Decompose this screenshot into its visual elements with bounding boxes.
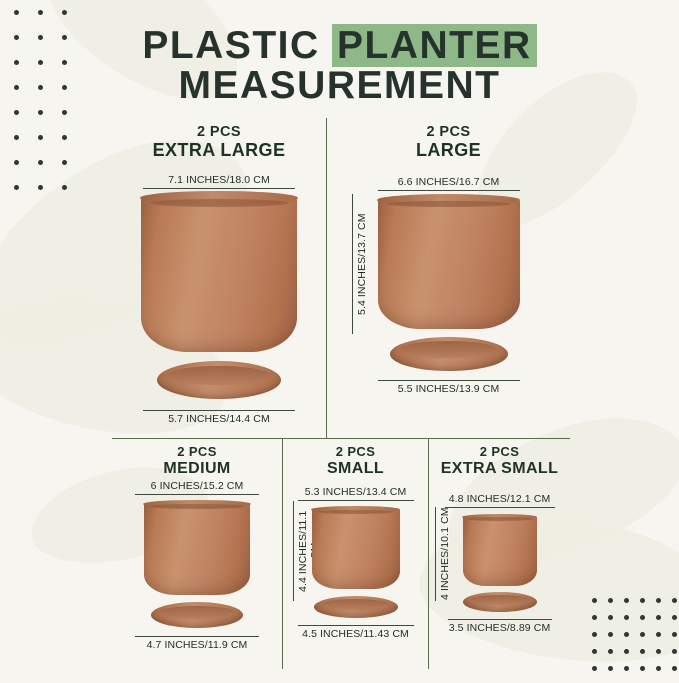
measure-top-extra-small: 4.8 INCHES/12.1 CM [445, 493, 555, 508]
measure-top-large: 6.6 INCHES/16.7 CM [378, 176, 520, 191]
product-art-large [327, 199, 570, 371]
measure-bottom-medium: 4.7 INCHES/11.9 CM [135, 636, 259, 651]
planter-pot-small [312, 509, 400, 589]
size-name: MEDIUM [112, 460, 282, 478]
pcs-label: 2 PCS [112, 124, 326, 140]
planter-pot-large [378, 199, 520, 329]
pcs-label: 2 PCS [112, 445, 282, 460]
pcs-label: 2 PCS [429, 445, 570, 460]
product-art-extra-small [429, 516, 570, 612]
pcs-label: 2 PCS [283, 445, 428, 460]
planter-pot-medium [144, 503, 250, 595]
title-line-2: MEASUREMENT [0, 66, 679, 106]
measure-bottom-extra-large: 5.7 INCHES/14.4 CM [143, 410, 295, 425]
measure-top-medium: 6 INCHES/15.2 CM [135, 480, 259, 495]
infographic-page: PLASTIC PLANTER MEASUREMENT 2 PCS EXTRA … [0, 0, 679, 679]
page-title: PLASTIC PLANTER MEASUREMENT [0, 0, 679, 106]
measure-top-extra-large: 7.1 INCHES/18.0 CM [143, 174, 295, 189]
size-cell-large: 2 PCS LARGE 6.6 INCHES/16.7 CM 5.4 INCHE… [326, 118, 570, 438]
size-name: EXTRA SMALL [429, 460, 570, 478]
planter-saucer-extra-small [463, 592, 537, 612]
size-cell-extra-large: 2 PCS EXTRA LARGE 7.1 INCHES/18.0 CM 5.7… [112, 118, 326, 438]
title-line-1: PLASTIC PLANTER [0, 26, 679, 66]
caption-extra-large: 2 PCS EXTRA LARGE [112, 118, 326, 160]
size-name: LARGE [327, 140, 570, 160]
size-name: SMALL [283, 460, 428, 478]
caption-small: 2 PCS SMALL [283, 439, 428, 477]
size-grid: 2 PCS EXTRA LARGE 7.1 INCHES/18.0 CM 5.7… [112, 118, 570, 669]
caption-medium: 2 PCS MEDIUM [112, 439, 282, 477]
caption-extra-small: 2 PCS EXTRA SMALL [429, 439, 570, 477]
caption-large: 2 PCS LARGE [327, 118, 570, 160]
size-row-bottom: 2 PCS MEDIUM 6 INCHES/15.2 CM 4.7 INCHES… [112, 438, 570, 669]
size-cell-small: 2 PCS SMALL 5.3 INCHES/13.4 CM 4.4 INCHE… [282, 439, 428, 669]
planter-pot-extra-small [463, 516, 537, 586]
measure-bottom-extra-small: 3.5 INCHES/8.89 CM [448, 619, 552, 634]
measure-top-small: 5.3 INCHES/13.4 CM [298, 486, 414, 501]
size-row-top: 2 PCS EXTRA LARGE 7.1 INCHES/18.0 CM 5.7… [112, 118, 570, 438]
planter-saucer-extra-large [157, 361, 281, 399]
planter-saucer-small [314, 596, 398, 618]
title-word-plastic: PLASTIC [142, 24, 332, 67]
planter-saucer-medium [151, 602, 243, 628]
size-cell-medium: 2 PCS MEDIUM 6 INCHES/15.2 CM 4.7 INCHES… [112, 439, 282, 669]
planter-saucer-large [390, 337, 508, 371]
size-cell-extra-small: 2 PCS EXTRA SMALL 4.8 INCHES/12.1 CM 4 I… [428, 439, 570, 669]
size-name: EXTRA LARGE [112, 140, 326, 160]
measure-bottom-small: 4.5 INCHES/11.43 CM [298, 625, 414, 640]
product-art-extra-large [112, 197, 326, 399]
planter-pot-extra-large [141, 197, 297, 352]
pcs-label: 2 PCS [327, 124, 570, 140]
product-art-small [283, 509, 428, 618]
title-word-planter-highlight: PLANTER [332, 24, 537, 67]
measure-bottom-large: 5.5 INCHES/13.9 CM [378, 380, 520, 395]
product-art-medium [112, 503, 282, 628]
